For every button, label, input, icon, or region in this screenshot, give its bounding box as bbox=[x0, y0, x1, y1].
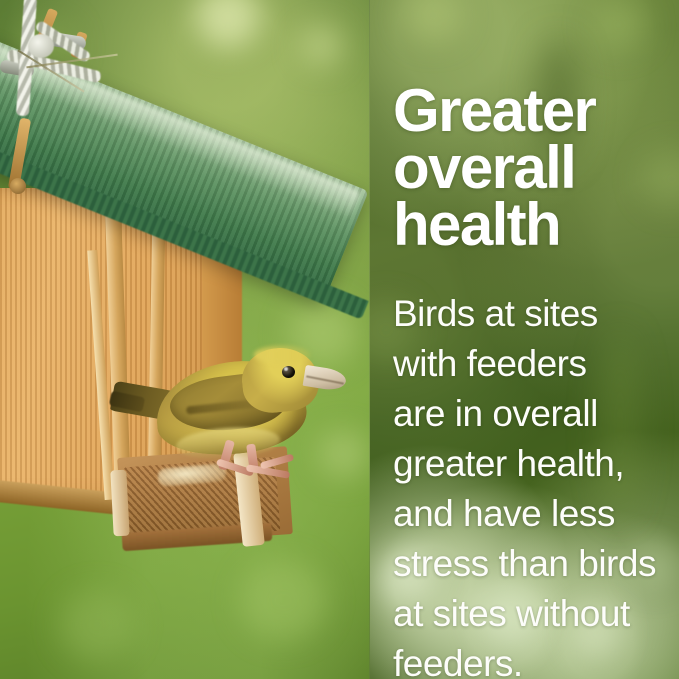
copy-block: Greater overall health Birds at sites wi… bbox=[393, 0, 679, 679]
body-line-1: Birds at sites bbox=[393, 289, 679, 339]
body-line-8: feeders. bbox=[393, 639, 679, 679]
headline-line-2: overall bbox=[393, 139, 679, 196]
page-title: Greater overall health bbox=[393, 82, 679, 253]
headline-line-1: Greater bbox=[393, 82, 679, 139]
bird-feeder-photo bbox=[0, 0, 370, 679]
body-line-3: are in overall bbox=[393, 389, 679, 439]
body-paragraph: Birds at sites with feeders are in overa… bbox=[393, 289, 679, 679]
text-panel: Greater overall health Birds at sites wi… bbox=[370, 0, 679, 679]
body-line-4: greater health, bbox=[393, 439, 679, 489]
dowel-end-cap bbox=[10, 178, 26, 194]
infographic-canvas: Greater overall health Birds at sites wi… bbox=[0, 0, 679, 679]
headline-line-3: health bbox=[393, 196, 679, 253]
bird-eye-glint bbox=[284, 367, 288, 371]
bokeh-highlight bbox=[300, 26, 342, 66]
body-line-6: stress than birds bbox=[393, 539, 679, 589]
bokeh-highlight bbox=[196, 0, 260, 48]
bird-toe bbox=[260, 453, 295, 469]
body-line-7: at sites without bbox=[393, 589, 679, 639]
greenfinch-bird bbox=[112, 336, 338, 482]
body-line-2: with feeders bbox=[393, 339, 679, 389]
rope-knot bbox=[28, 34, 54, 58]
bokeh-highlight bbox=[60, 590, 134, 660]
bokeh-highlight bbox=[240, 560, 326, 640]
bird-crown bbox=[254, 346, 310, 364]
body-line-5: and have less bbox=[393, 489, 679, 539]
